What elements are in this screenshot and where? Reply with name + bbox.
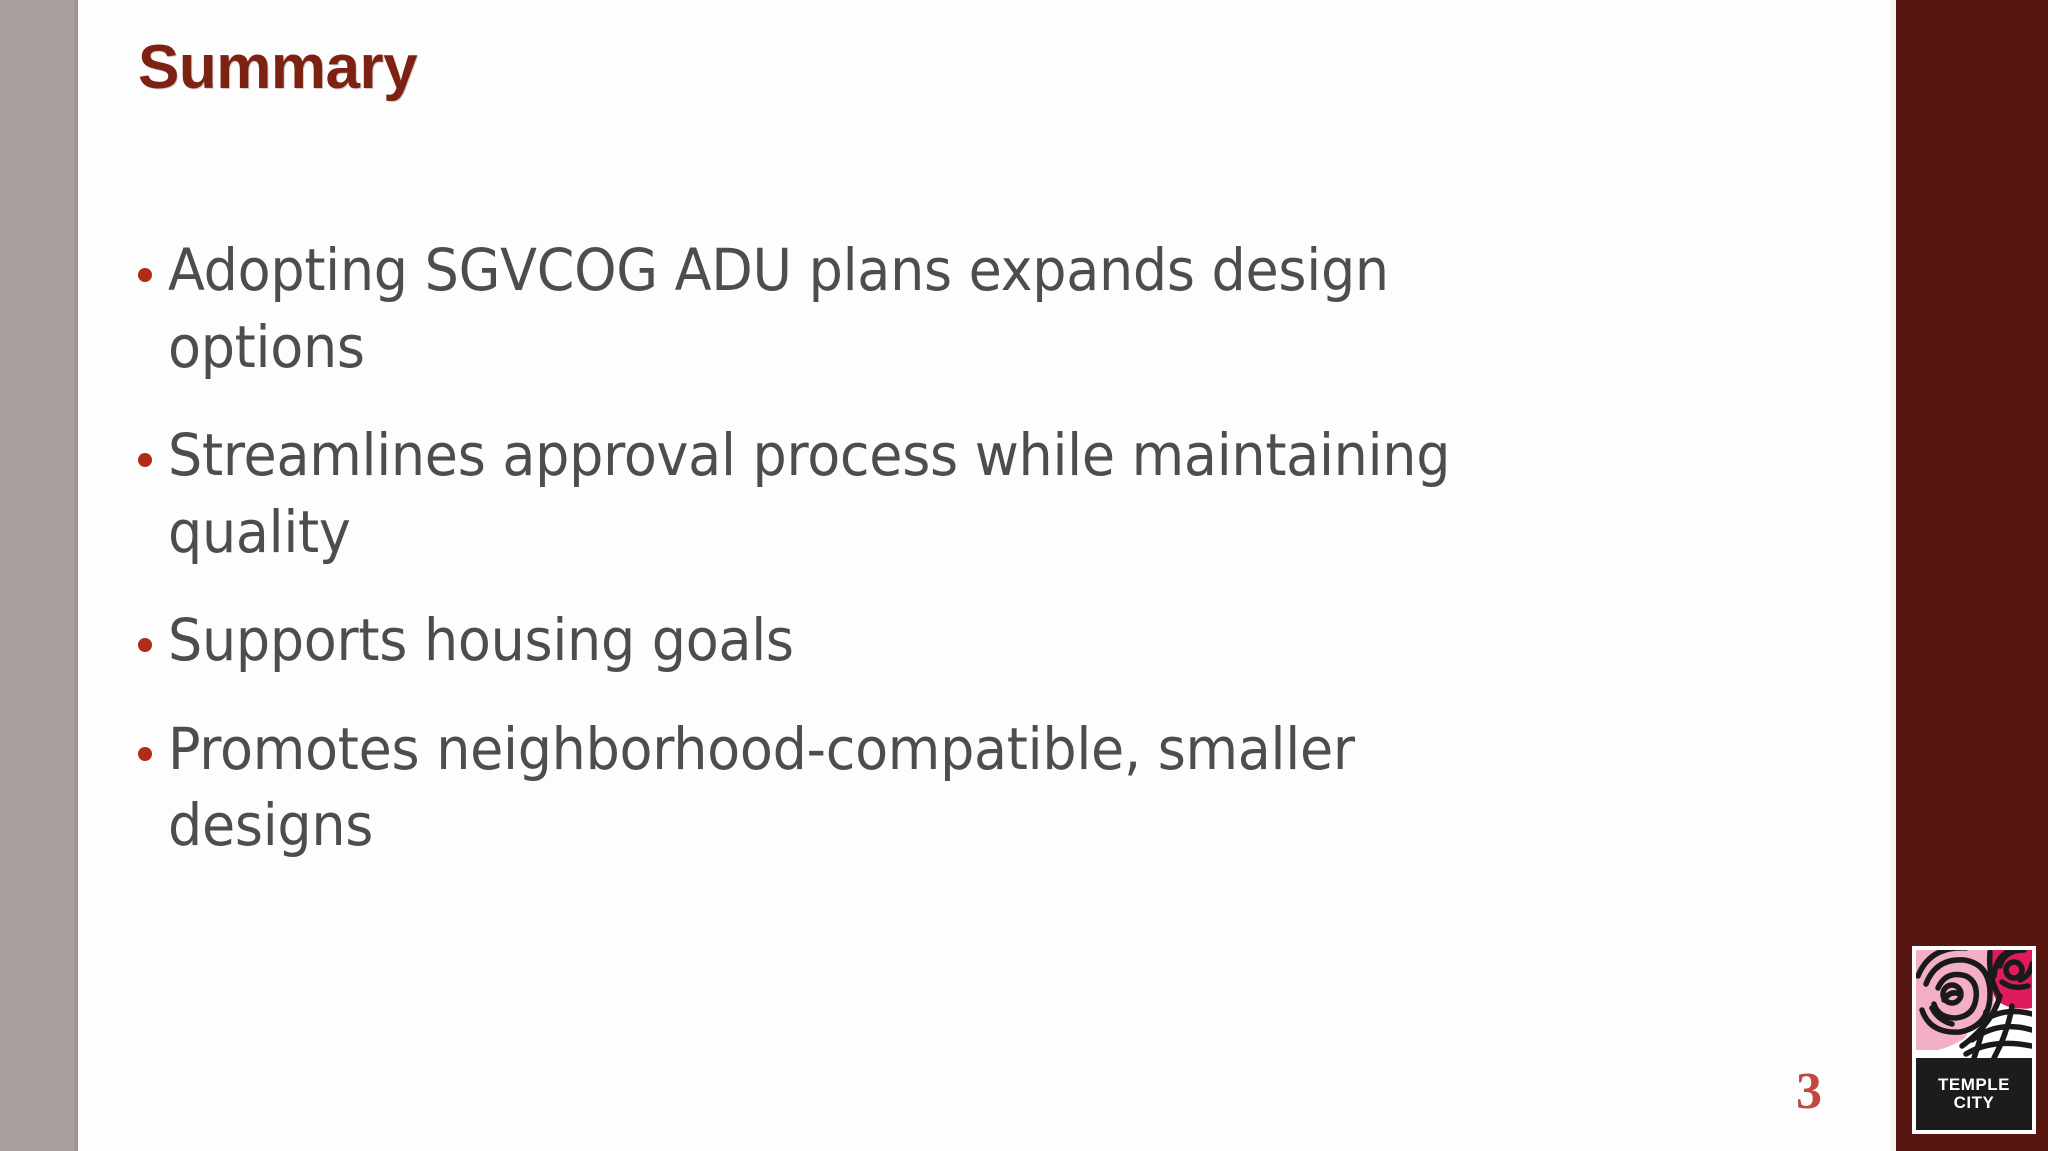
bullet-dot-icon xyxy=(138,453,152,467)
page-number: 3 xyxy=(1796,1062,1822,1121)
bullet-text: Adopting SGVCOG ADU plans expands design… xyxy=(168,232,1535,385)
presentation-slide: Summary Adopting SGVCOG ADU plans expand… xyxy=(0,0,2048,1151)
temple-city-logo: TEMPLE CITY xyxy=(1912,946,2036,1134)
bullet-dot-icon xyxy=(138,638,152,652)
left-decorative-band xyxy=(0,0,74,1151)
logo-wordmark-line1: TEMPLE xyxy=(1938,1076,2010,1094)
bullet-text: Streamlines approval process while maint… xyxy=(168,417,1535,570)
bullet-text: Promotes neighborhood-compatible, smalle… xyxy=(168,711,1535,864)
list-item: Adopting SGVCOG ADU plans expands design… xyxy=(138,232,1638,385)
logo-wordmark: TEMPLE CITY xyxy=(1916,1058,2032,1130)
list-item: Streamlines approval process while maint… xyxy=(138,417,1638,570)
slide-title: Summary xyxy=(138,32,417,103)
bullet-list: Adopting SGVCOG ADU plans expands design… xyxy=(138,232,1638,864)
list-item: Supports housing goals xyxy=(138,602,1638,679)
bullet-dot-icon xyxy=(138,747,152,761)
rose-graphic-icon xyxy=(1916,950,2032,1058)
bullet-dot-icon xyxy=(138,268,152,282)
logo-wordmark-line2: CITY xyxy=(1954,1094,1995,1112)
logo-inner: TEMPLE CITY xyxy=(1916,950,2032,1130)
left-decorative-band-edge xyxy=(74,0,78,1151)
bullet-text: Supports housing goals xyxy=(168,602,1535,679)
list-item: Promotes neighborhood-compatible, smalle… xyxy=(138,711,1638,864)
